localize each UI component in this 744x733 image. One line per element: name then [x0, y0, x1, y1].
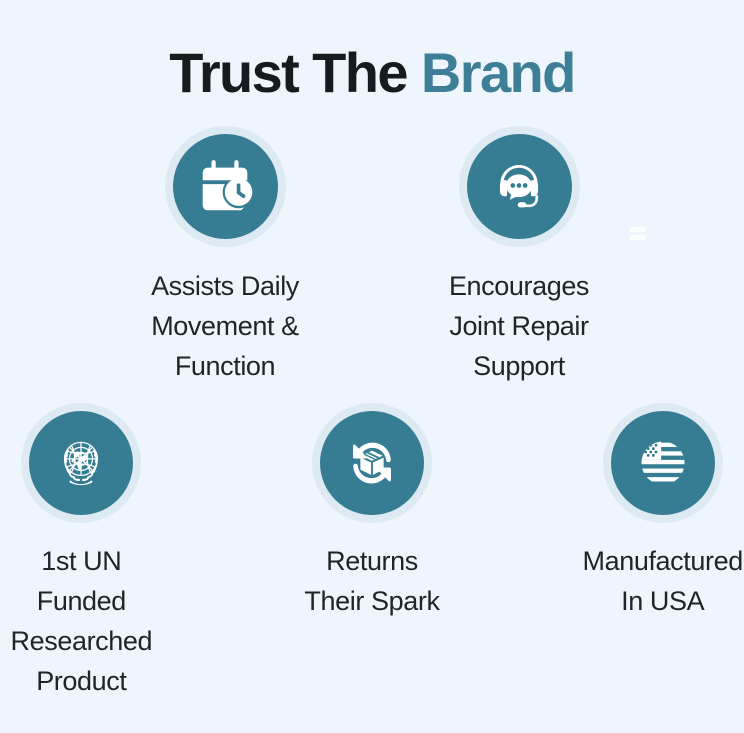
badge-circle	[29, 411, 133, 515]
page-title-accent: Brand	[421, 41, 575, 104]
page-title: Trust The Brand	[0, 0, 744, 101]
trust-badge-un-funded-research: 1st UN Funded Researched Product	[0, 411, 163, 702]
hamburger-menu-icon[interactable]	[630, 227, 646, 240]
trust-badge-label: 1st UN Funded Researched Product	[0, 542, 163, 702]
trust-badge-label: Manufactured In USA	[583, 542, 743, 622]
page-title-primary: Trust The	[169, 41, 407, 104]
headset-chat-support-icon	[489, 157, 549, 217]
trust-badge-row-top: Assists Daily Movement & Function	[0, 134, 744, 387]
hamburger-menu-bar-top	[630, 227, 646, 232]
trust-badge-label: Encourages Joint Repair Support	[449, 267, 589, 387]
trust-badge-label: Assists Daily Movement & Function	[151, 267, 299, 387]
united-nations-emblem-icon	[48, 430, 114, 496]
trust-badge-manufactured-in-usa: Manufactured In USA	[581, 411, 744, 622]
trust-badge-row-bottom: 1st UN Funded Researched Product	[0, 411, 744, 702]
badge-circle	[173, 134, 278, 239]
usa-flag-circle-icon	[633, 433, 693, 493]
badge-circle	[467, 134, 572, 239]
package-return-arrows-icon	[342, 433, 402, 493]
trust-badge-label: Returns Their Spark	[304, 542, 439, 622]
badge-circle	[611, 411, 715, 515]
hamburger-menu-bar-bottom	[630, 235, 646, 240]
trust-badge-joint-repair-support: Encourages Joint Repair Support	[436, 134, 602, 387]
calendar-clock-icon	[194, 156, 256, 218]
trust-badge-returns-their-spark: Returns Their Spark	[291, 411, 454, 622]
trust-badge-assists-daily-movement: Assists Daily Movement & Function	[142, 134, 308, 387]
badge-circle	[320, 411, 424, 515]
